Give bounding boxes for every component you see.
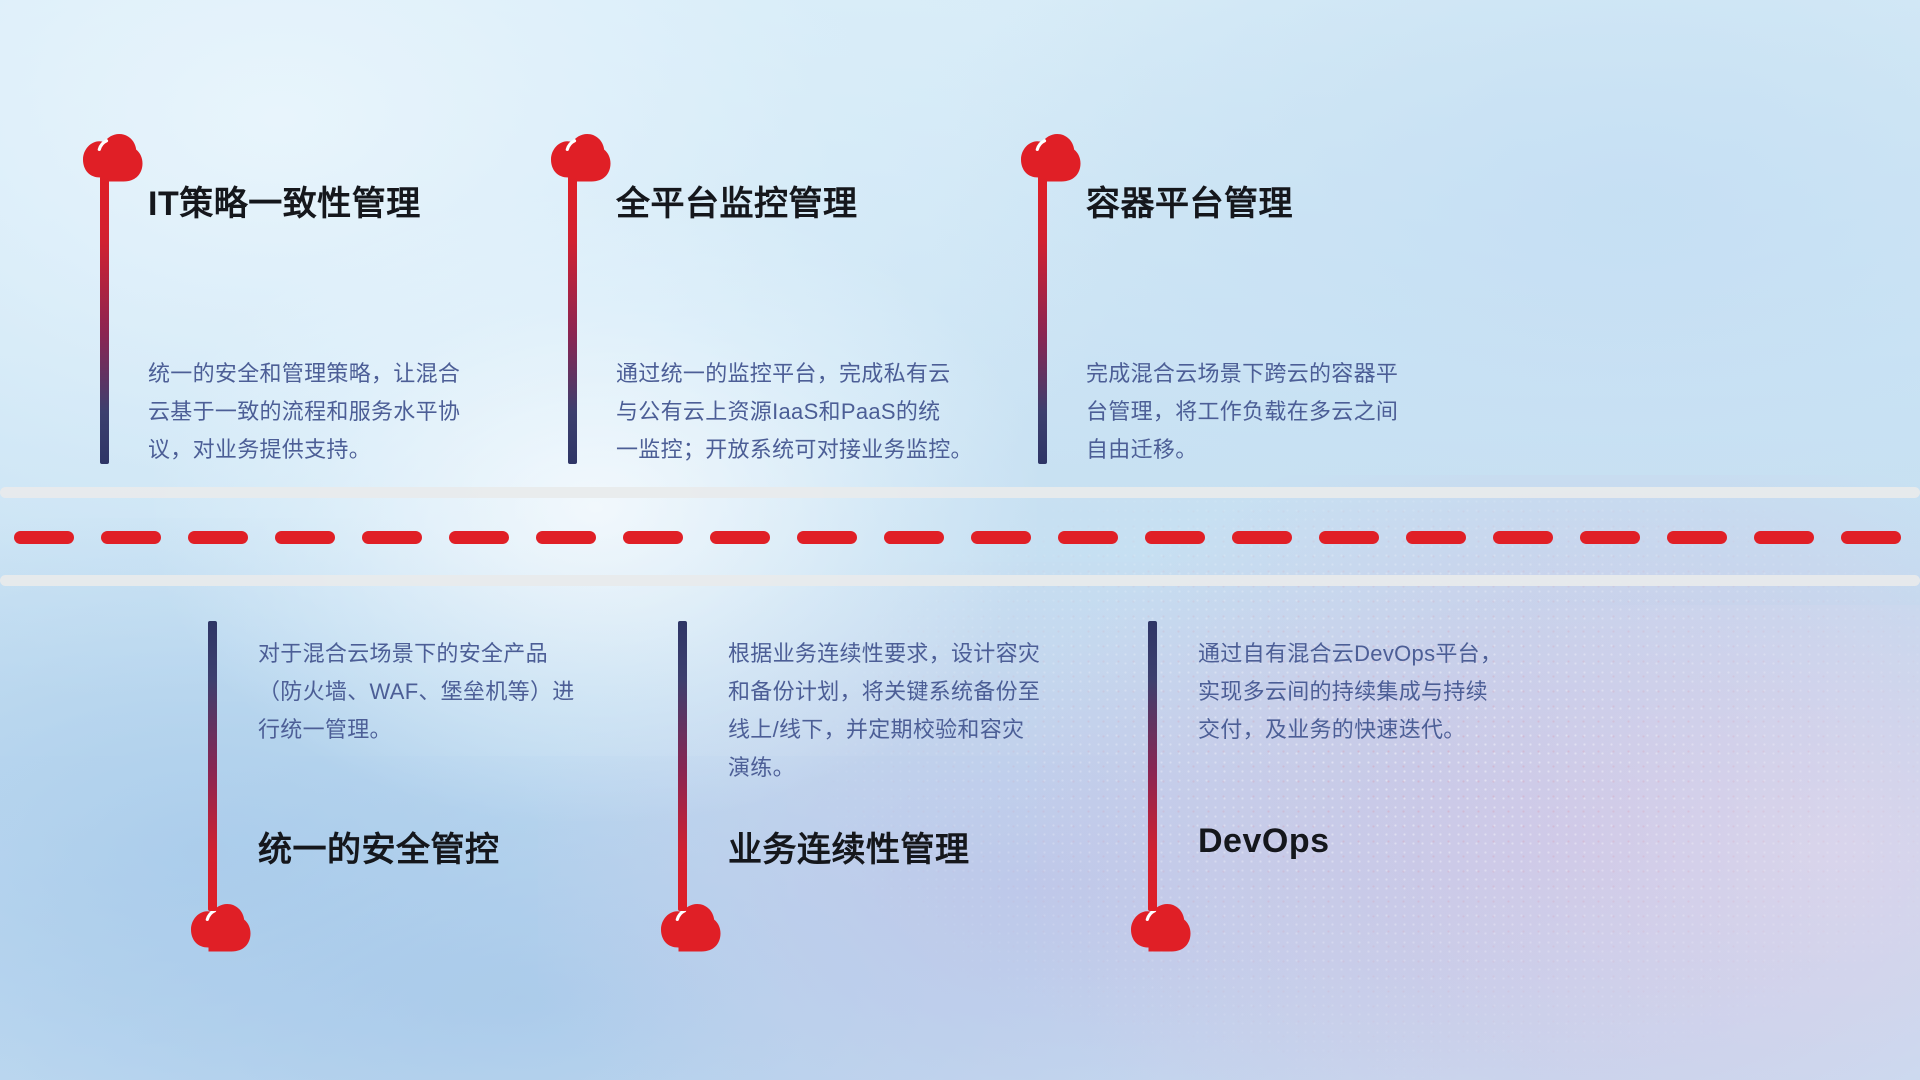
feature-description-line: 通过自有混合云DevOps平台， [1198,635,1502,673]
cloud-icon [1128,903,1192,952]
connector-stem [208,621,217,911]
divider-dash [1754,531,1814,544]
divider-dash [1580,531,1640,544]
feature-description-line: 议，对业务提供支持。 [148,431,460,469]
feature-description: 根据业务连续性要求，设计容灾和备份计划，将关键系统备份至线上/线下，并定期校验和… [728,635,1040,787]
feature-description-line: 与公有云上资源IaaS和PaaS的统 [616,393,973,431]
feature-description-line: 自由迁移。 [1086,431,1398,469]
feature-description-line: 根据业务连续性要求，设计容灾 [728,635,1040,673]
feature-description-line: 统一的安全和管理策略，让混合 [148,355,460,393]
feature-description: 对于混合云场景下的安全产品（防火墙、WAF、堡垒机等）进行统一管理。 [258,635,575,749]
cloud-icon [188,903,252,952]
divider-dashed-line [0,531,1920,544]
feature-description-line: 演练。 [728,749,1040,787]
divider-dash [188,531,248,544]
feature-description: 统一的安全和管理策略，让混合云基于一致的流程和服务水平协议，对业务提供支持。 [148,355,460,469]
divider-dash [797,531,857,544]
cloud-icon [548,133,612,182]
feature-title: 全平台监控管理 [616,176,858,225]
feature-title: DevOps [1198,822,1330,861]
cloud-icon-shape [80,133,144,182]
divider-dash [623,531,683,544]
divider-dash [449,531,509,544]
divider-dash [101,531,161,544]
feature-title: 统一的安全管控 [258,822,500,871]
feature-description: 通过统一的监控平台，完成私有云与公有云上资源IaaS和PaaS的统一监控；开放系… [616,355,973,469]
divider-dash [275,531,335,544]
divider-dash [14,531,74,544]
divider-rule-bottom [0,575,1920,586]
divider-dash [362,531,422,544]
divider-rule-top [0,487,1920,498]
divider-dash [1058,531,1118,544]
feature-title: 业务连续性管理 [728,822,970,871]
divider-dash [1232,531,1292,544]
cloud-icon [658,903,722,952]
cloud-icon [80,133,144,182]
feature-description-line: 云基于一致的流程和服务水平协 [148,393,460,431]
connector-stem [100,176,109,464]
divider-dash [1493,531,1553,544]
feature-description-line: 对于混合云场景下的安全产品 [258,635,575,673]
cloud-icon [1018,133,1082,182]
feature-description-line: 台管理，将工作负载在多云之间 [1086,393,1398,431]
feature-title: 容器平台管理 [1086,176,1293,225]
cloud-icon-shape [1128,903,1192,952]
feature-description-line: 交付，及业务的快速迭代。 [1198,711,1502,749]
divider-dash [971,531,1031,544]
cloud-icon-shape [548,133,612,182]
divider-dash [1319,531,1379,544]
feature-description-line: 行统一管理。 [258,711,575,749]
divider-dash [710,531,770,544]
feature-description-line: 线上/线下，并定期校验和容灾 [728,711,1040,749]
feature-description: 完成混合云场景下跨云的容器平台管理，将工作负载在多云之间自由迁移。 [1086,355,1398,469]
feature-description-line: 和备份计划，将关键系统备份至 [728,673,1040,711]
cloud-icon-shape [658,903,722,952]
feature-title: IT策略一致性管理 [148,176,421,225]
divider-dash [1841,531,1901,544]
feature-description: 通过自有混合云DevOps平台，实现多云间的持续集成与持续交付，及业务的快速迭代… [1198,635,1502,749]
feature-description-line: （防火墙、WAF、堡垒机等）进 [258,673,575,711]
cloud-icon-shape [1018,133,1082,182]
feature-description-line: 实现多云间的持续集成与持续 [1198,673,1502,711]
divider-dash [1145,531,1205,544]
feature-description-line: 完成混合云场景下跨云的容器平 [1086,355,1398,393]
connector-stem [568,176,577,464]
divider-dash [884,531,944,544]
connector-stem [1148,621,1157,911]
feature-description-line: 一监控；开放系统可对接业务监控。 [616,431,973,469]
connector-stem [678,621,687,911]
divider-dash [1667,531,1727,544]
divider-dash [1406,531,1466,544]
cloud-icon-shape [188,903,252,952]
connector-stem [1038,176,1047,464]
infographic-canvas: IT策略一致性管理统一的安全和管理策略，让混合云基于一致的流程和服务水平协议，对… [0,0,1920,1080]
divider-dash [536,531,596,544]
feature-description-line: 通过统一的监控平台，完成私有云 [616,355,973,393]
